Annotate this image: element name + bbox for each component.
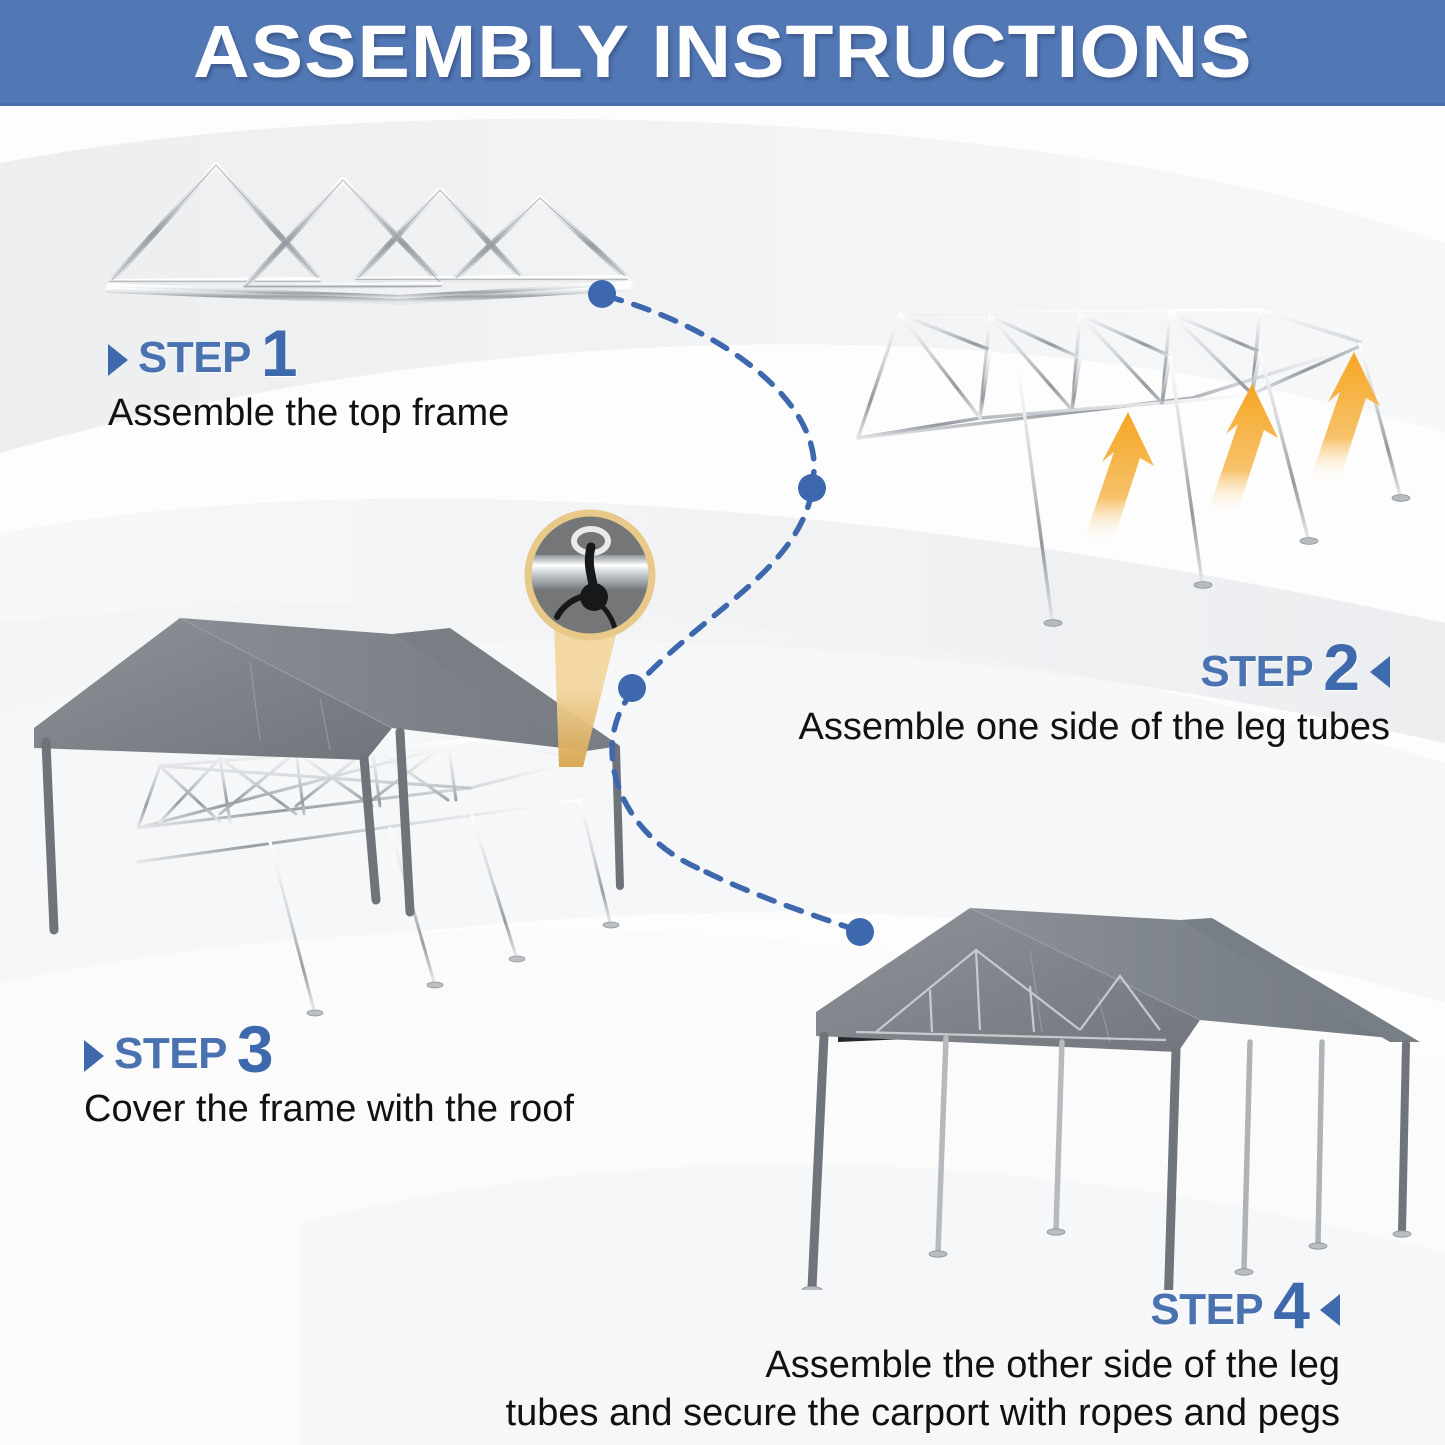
triangle-left-icon bbox=[1370, 656, 1390, 688]
step-4-heading: STEP 4 bbox=[500, 1278, 1340, 1332]
connector-path bbox=[560, 270, 920, 980]
page-header: ASSEMBLY INSTRUCTIONS bbox=[0, 0, 1445, 106]
triangle-left-icon bbox=[1320, 1294, 1340, 1326]
step-3-number: 3 bbox=[237, 1022, 274, 1076]
step-1-description: Assemble the top frame bbox=[108, 390, 509, 436]
step-3-block: STEP 3 Cover the frame with the roof bbox=[84, 1022, 574, 1132]
step-2-number: 2 bbox=[1323, 640, 1360, 694]
page-title: ASSEMBLY INSTRUCTIONS bbox=[193, 9, 1253, 94]
connector-node bbox=[588, 280, 874, 946]
step-3-description: Cover the frame with the roof bbox=[84, 1086, 574, 1132]
step-4-word: STEP bbox=[1150, 1288, 1263, 1332]
triangle-right-icon bbox=[84, 1040, 104, 1072]
step-1-block: STEP 1 Assemble the top frame bbox=[108, 326, 509, 436]
step-4-block: STEP 4 Assemble the other side of the le… bbox=[500, 1278, 1340, 1437]
step-4-description-line1: Assemble the other side of the leg bbox=[500, 1342, 1340, 1388]
triangle-right-icon bbox=[108, 344, 128, 376]
step-3-heading: STEP 3 bbox=[84, 1022, 574, 1076]
illustration-frame-one-side-legs bbox=[840, 290, 1440, 660]
step-4-number: 4 bbox=[1273, 1278, 1310, 1332]
step-1-heading: STEP 1 bbox=[108, 326, 509, 380]
assembly-instructions-page: ASSEMBLY INSTRUCTIONS bbox=[0, 0, 1445, 1445]
step-3-word: STEP bbox=[114, 1032, 227, 1076]
step-4-description-line2: tubes and secure the carport with ropes … bbox=[500, 1390, 1340, 1436]
step-2-word: STEP bbox=[1200, 650, 1313, 694]
step-1-number: 1 bbox=[261, 326, 298, 380]
step-1-word: STEP bbox=[138, 336, 251, 380]
